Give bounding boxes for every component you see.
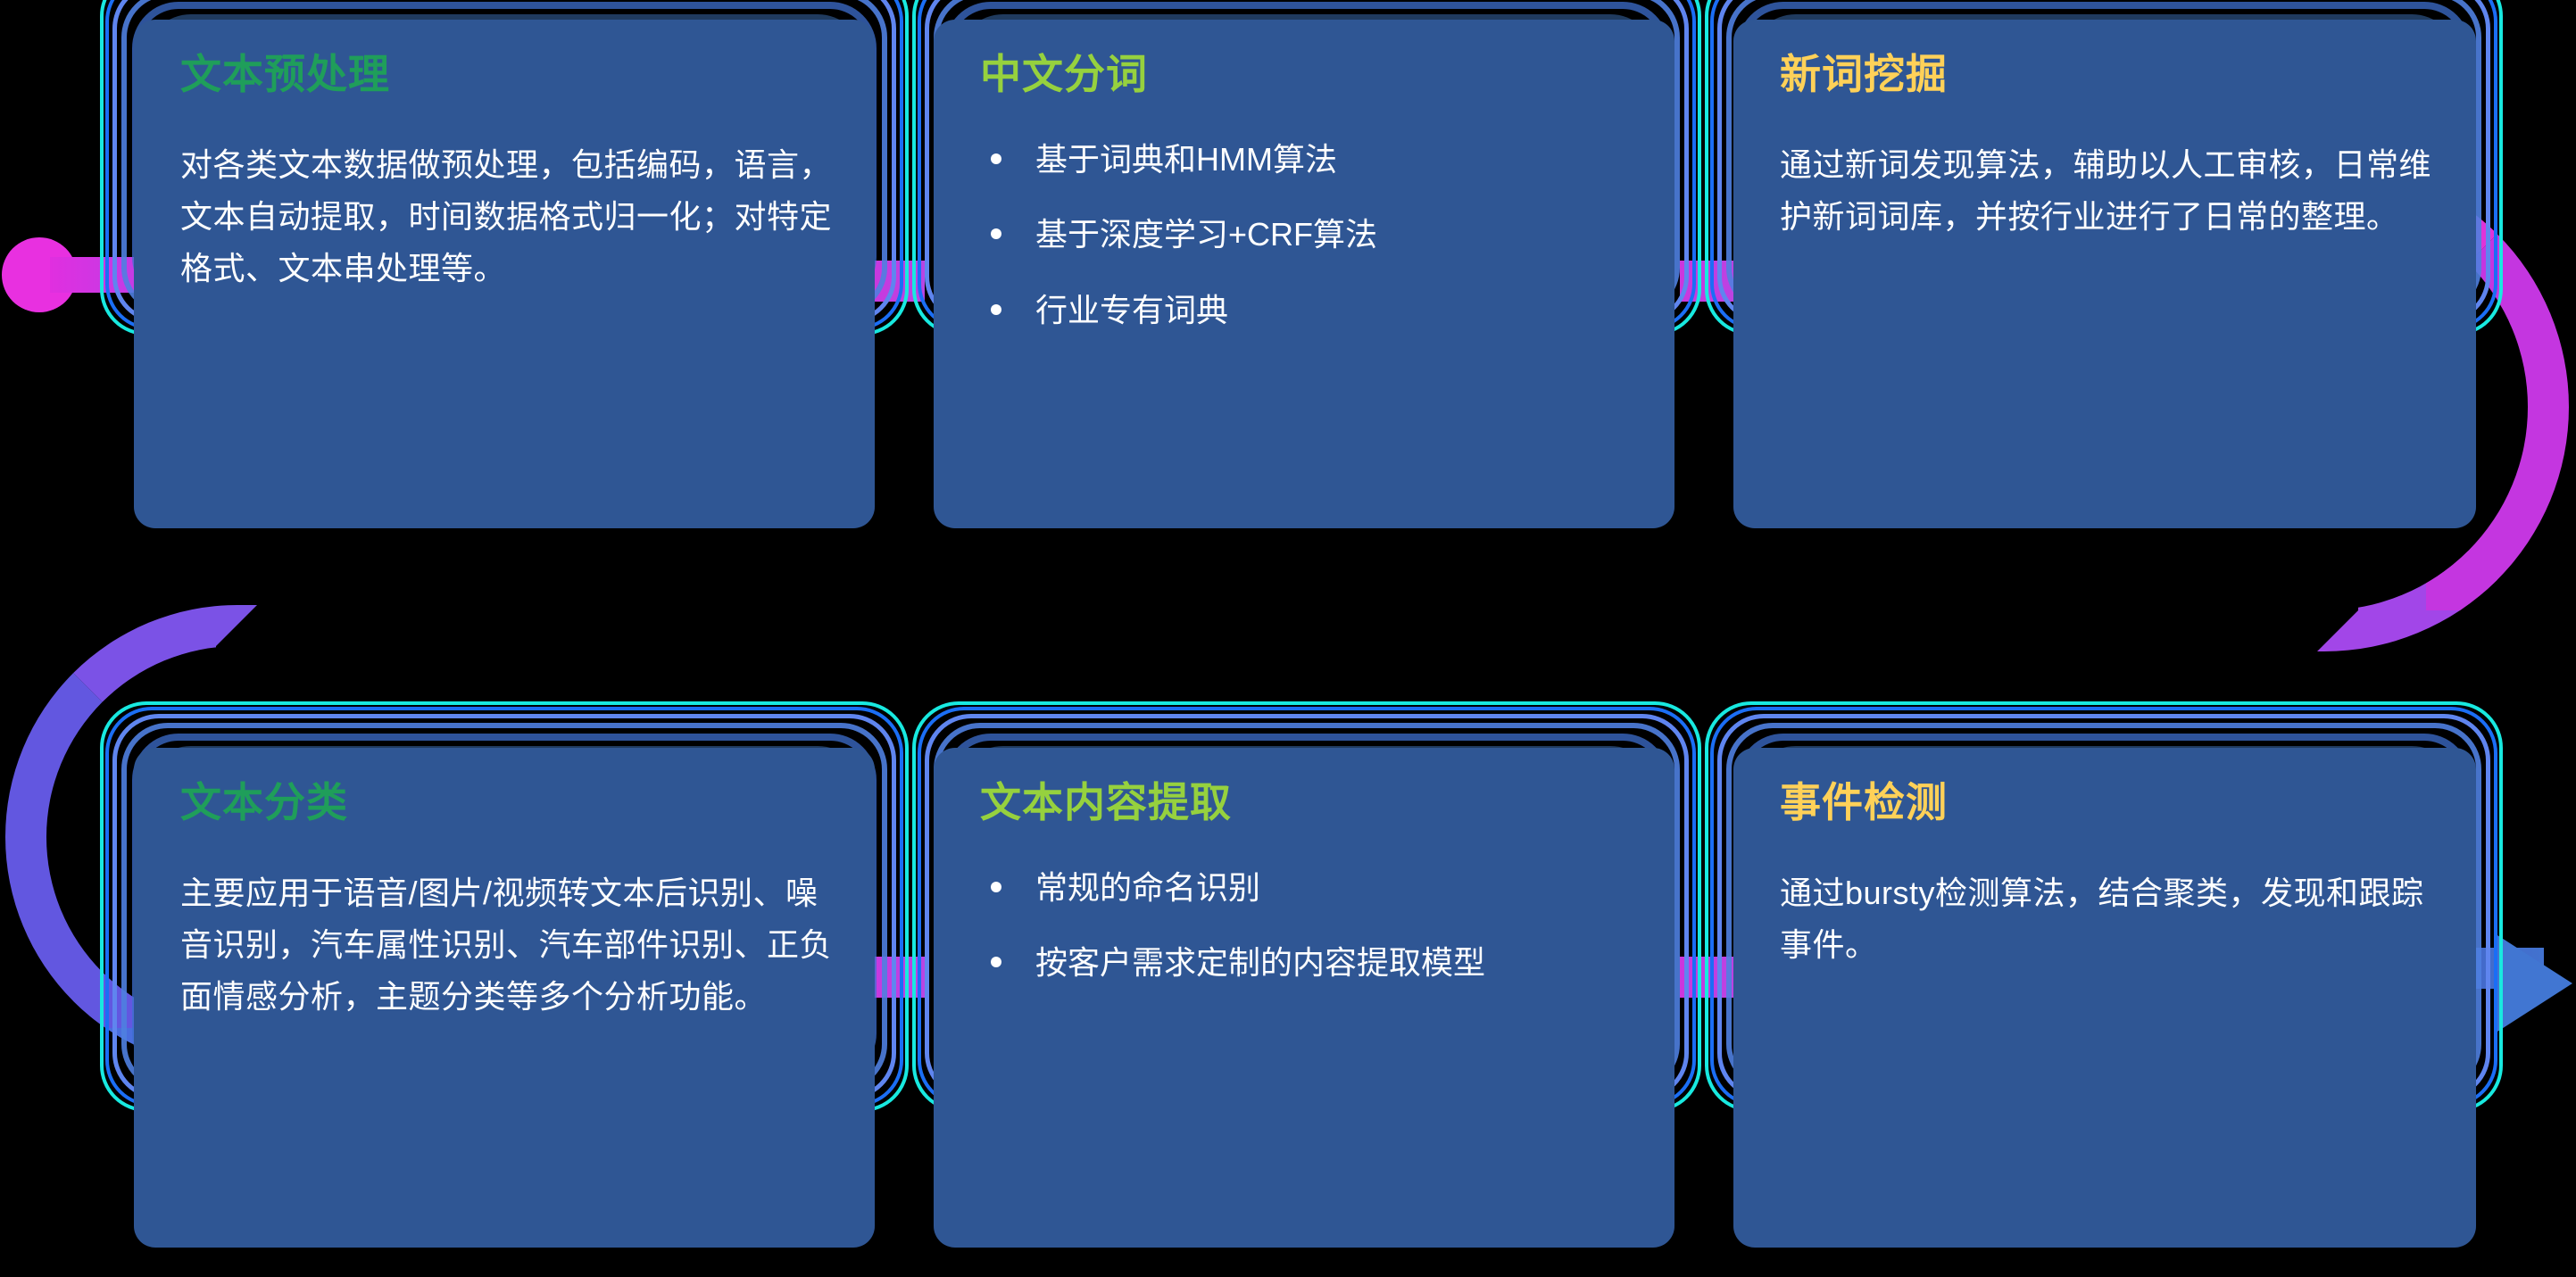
bullet-dot-icon	[991, 882, 1001, 892]
card-text-content-extraction[interactable]: 文本内容提取 常规的命名识别 按客户需求定制的内容提取模型	[934, 748, 1674, 1248]
list-item-label: 按客户需求定制的内容提取模型	[1035, 944, 1485, 981]
card-title-new-word-mining: 新词挖掘	[1780, 52, 2435, 98]
card-body-new-word-mining: 通过新词发现算法，辅助以人工审核，日常维护新词词库，并按行业进行了日常的整理。	[1780, 139, 2435, 244]
bullet-dot-icon	[991, 304, 1001, 315]
card-title-text-preprocessing: 文本预处理	[180, 52, 834, 98]
bullet-dot-icon	[991, 153, 1001, 164]
card-title-text-classification: 文本分类	[180, 780, 834, 826]
end-arrow-icon	[2497, 935, 2572, 1032]
list-item-label: 行业专有词典	[1035, 292, 1228, 328]
card-body-text-classification: 主要应用于语音/图片/视频转文本后识别、噪音识别，汽车属性识别、汽车部件识别、正…	[180, 867, 834, 1024]
card-title-chinese-word-segmentation: 中文分词	[980, 52, 1633, 98]
list-item: 基于词典和HMM算法	[980, 139, 1633, 181]
list-item-label: 常规的命名识别	[1035, 869, 1260, 906]
list-item: 行业专有词典	[980, 290, 1633, 332]
card-body-event-detection: 通过bursty检测算法，结合聚类，发现和跟踪事件。	[1780, 867, 2435, 972]
card-text-classification[interactable]: 文本分类 主要应用于语音/图片/视频转文本后识别、噪音识别，汽车属性识别、汽车部…	[134, 748, 875, 1248]
list-item-label: 基于词典和HMM算法	[1035, 141, 1337, 178]
card-chinese-word-segmentation[interactable]: 中文分词 基于词典和HMM算法 基于深度学习+CRF算法 行业专有词典	[934, 20, 1674, 528]
card-bullets-chinese-word-segmentation: 基于词典和HMM算法 基于深度学习+CRF算法 行业专有词典	[980, 139, 1633, 332]
diagram-canvas: 文本预处理 对各类文本数据做预处理，包括编码，语言，文本自动提取，时间数据格式归…	[0, 0, 2576, 1277]
card-title-text-content-extraction: 文本内容提取	[980, 780, 1633, 826]
card-bullets-text-content-extraction: 常规的命名识别 按客户需求定制的内容提取模型	[980, 867, 1633, 985]
card-event-detection[interactable]: 事件检测 通过bursty检测算法，结合聚类，发现和跟踪事件。	[1733, 748, 2476, 1248]
bullet-dot-icon	[991, 957, 1001, 967]
card-text-preprocessing[interactable]: 文本预处理 对各类文本数据做预处理，包括编码，语言，文本自动提取，时间数据格式归…	[134, 20, 875, 528]
list-item-label: 基于深度学习+CRF算法	[1035, 216, 1377, 253]
list-item: 基于深度学习+CRF算法	[980, 214, 1633, 256]
list-item: 按客户需求定制的内容提取模型	[980, 942, 1633, 984]
card-body-text-preprocessing: 对各类文本数据做预处理，包括编码，语言，文本自动提取，时间数据格式归一化；对特定…	[180, 139, 834, 295]
card-new-word-mining[interactable]: 新词挖掘 通过新词发现算法，辅助以人工审核，日常维护新词词库，并按行业进行了日常…	[1733, 20, 2476, 528]
list-item: 常规的命名识别	[980, 867, 1633, 909]
card-title-event-detection: 事件检测	[1780, 780, 2435, 826]
bullet-dot-icon	[991, 228, 1001, 239]
